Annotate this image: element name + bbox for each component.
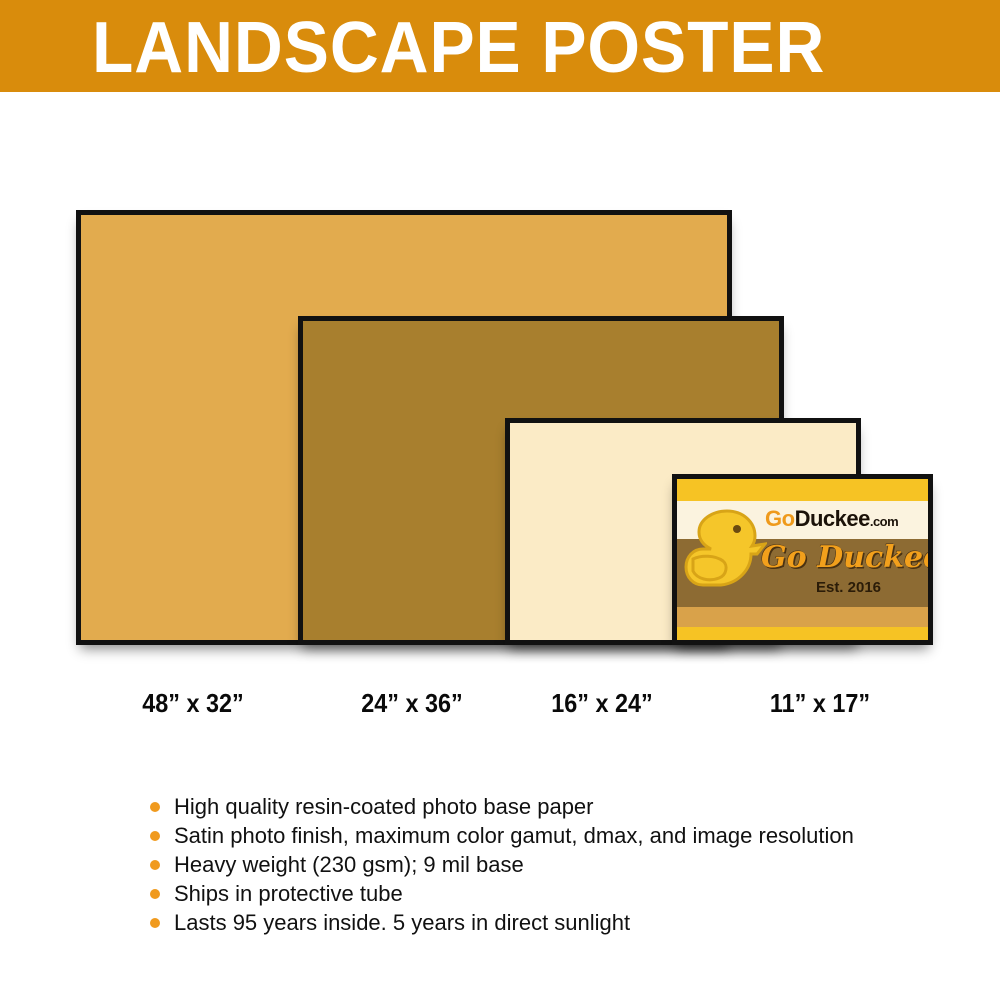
list-item: High quality resin-coated photo base pap… [148, 792, 948, 821]
feature-text: Lasts 95 years inside. 5 years in direct… [174, 910, 630, 935]
features-list: High quality resin-coated photo base pap… [148, 792, 948, 937]
size-label-11x17: 11” x 17” [730, 688, 910, 719]
list-item: Satin photo finish, maximum color gamut,… [148, 821, 948, 850]
bullet-dot-icon [150, 831, 160, 841]
duck-eye-icon [733, 525, 741, 533]
size-label-16x24: 16” x 24” [512, 688, 692, 719]
bullet-dot-icon [150, 860, 160, 870]
logo-band-top-gold [677, 479, 928, 501]
size-label-24x36: 24” x 36” [322, 688, 502, 719]
list-item: Heavy weight (230 gsm); 9 mil base [148, 850, 948, 879]
go-duckee-logo-card: GoDuckee.com Go Duckee Est. 2016 [677, 479, 928, 640]
brand-wordmark: GoDuckee.com [765, 505, 898, 536]
feature-text: Ships in protective tube [174, 881, 403, 906]
brand-established-text: Est. 2016 [761, 579, 933, 597]
rubber-duck-icon [681, 499, 767, 609]
brand-duckee-text: Duckee [795, 506, 870, 531]
brand-dotcom-text: .com [870, 514, 898, 529]
bullet-dot-icon [150, 889, 160, 899]
feature-text: Heavy weight (230 gsm); 9 mil base [174, 852, 524, 877]
feature-text: High quality resin-coated photo base pap… [174, 794, 594, 819]
bullet-dot-icon [150, 802, 160, 812]
brand-go-text: Go [765, 506, 795, 531]
list-item: Ships in protective tube [148, 879, 948, 908]
logo-band-tan [677, 607, 928, 627]
poster-size-comparison: GoDuckee.com Go Duckee Est. 2016 [0, 92, 1000, 692]
feature-text: Satin photo finish, maximum color gamut,… [174, 823, 854, 848]
bullet-dot-icon [150, 918, 160, 928]
header-bar: LANDSCAPE POSTER [0, 0, 1000, 92]
poster-swatch-11x17: GoDuckee.com Go Duckee Est. 2016 [672, 474, 933, 645]
size-label-row: 48” x 32” 24” x 36” 16” x 24” 11” x 17” [0, 688, 1000, 734]
list-item: Lasts 95 years inside. 5 years in direct… [148, 908, 948, 937]
logo-band-bottom-gold [677, 627, 928, 640]
brand-script-text: Go Duckee [761, 541, 933, 575]
size-label-48x32: 48” x 32” [103, 688, 283, 719]
page-title: LANDSCAPE POSTER [92, 8, 825, 88]
